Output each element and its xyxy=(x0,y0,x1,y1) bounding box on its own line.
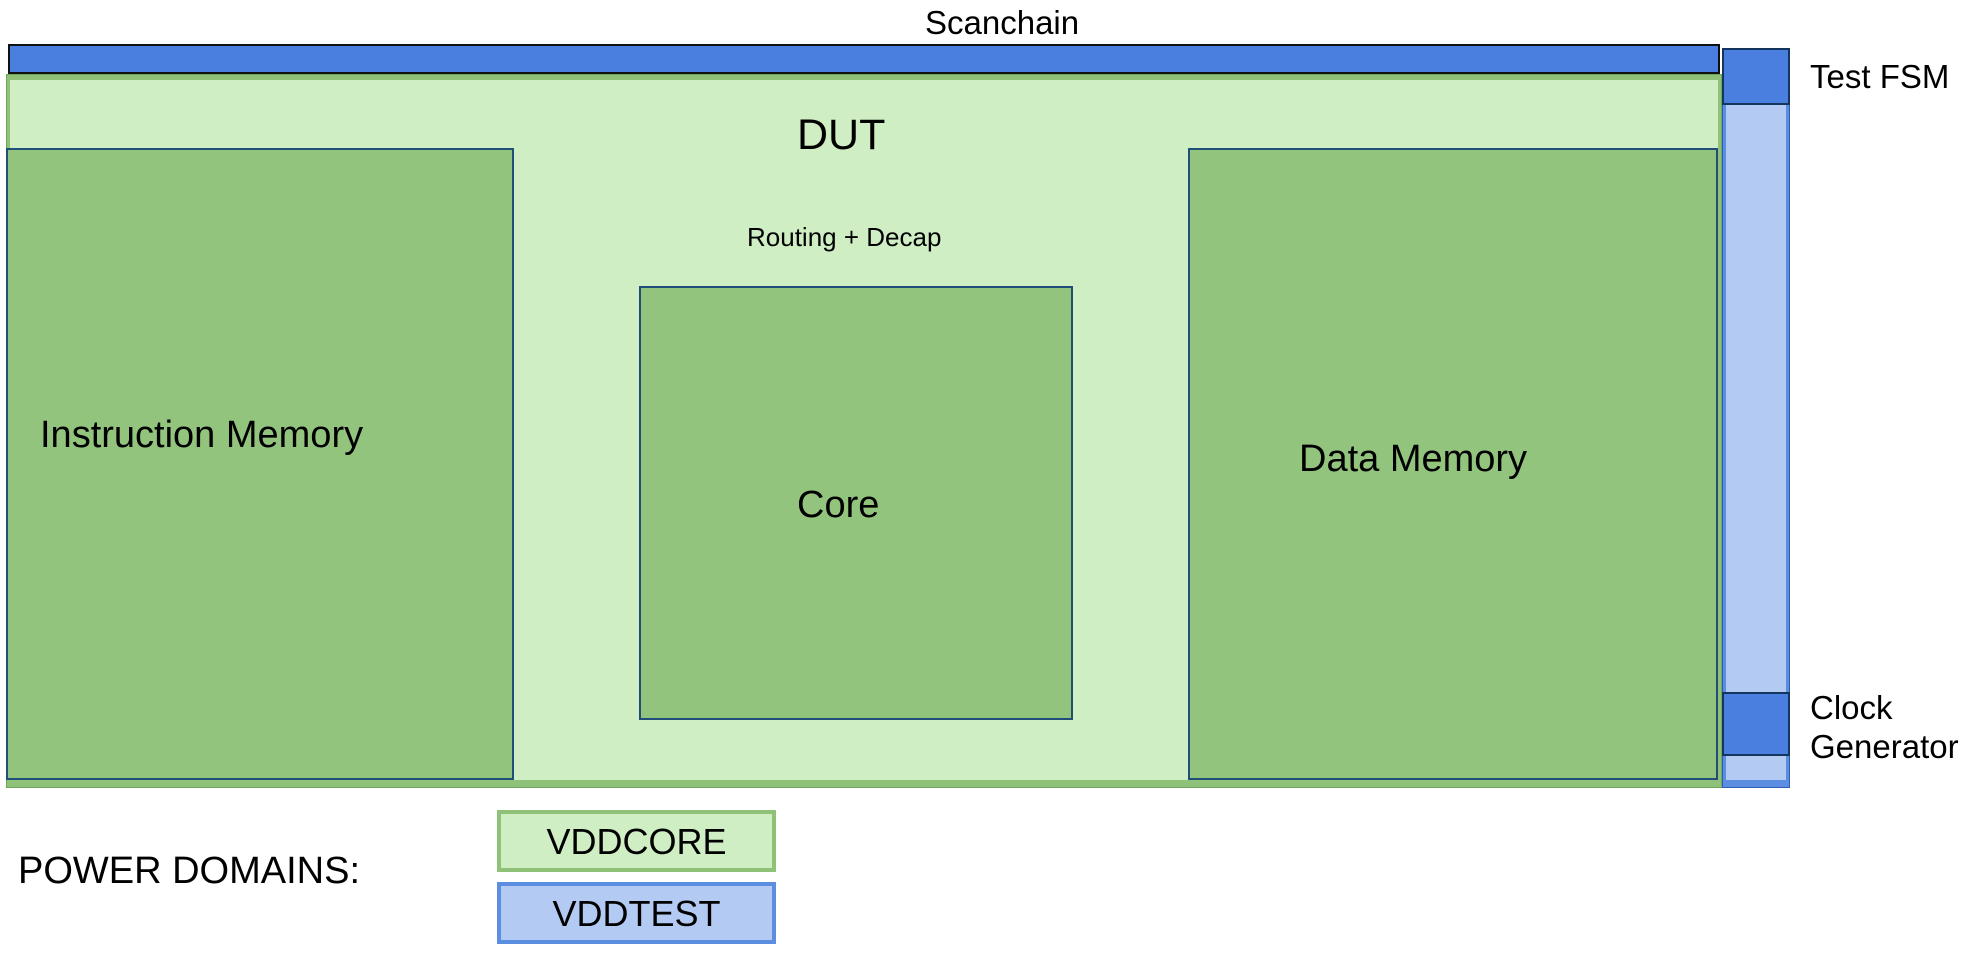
legend-label-vddcore: VDDCORE xyxy=(501,814,772,870)
scanchain-block xyxy=(8,44,1720,74)
clock-generator-block xyxy=(1722,692,1790,756)
test-fsm-label: Test FSM xyxy=(1810,58,1949,97)
routing-decap-label: Routing + Decap xyxy=(747,222,941,253)
legend-label-vddtest: VDDTEST xyxy=(501,886,772,942)
chip-floorplan-diagram: Scanchain DUT Routing + Decap Instructio… xyxy=(0,0,1970,964)
scanchain-label: Scanchain xyxy=(925,4,1079,43)
legend-swatch-vddcore: VDDCORE xyxy=(497,810,776,872)
data-memory-label: Data Memory xyxy=(1299,437,1527,482)
clock-generator-label: Clock Generator xyxy=(1810,689,1959,767)
dut-label: DUT xyxy=(797,110,885,161)
vddtest-ring-interior xyxy=(1726,100,1786,780)
instruction-memory-label: Instruction Memory xyxy=(40,413,363,458)
test-fsm-block xyxy=(1722,48,1790,105)
core-label: Core xyxy=(797,483,879,528)
legend-swatch-vddtest: VDDTEST xyxy=(497,882,776,944)
instruction-memory-block xyxy=(6,148,514,780)
power-domains-heading: POWER DOMAINS: xyxy=(18,849,360,894)
